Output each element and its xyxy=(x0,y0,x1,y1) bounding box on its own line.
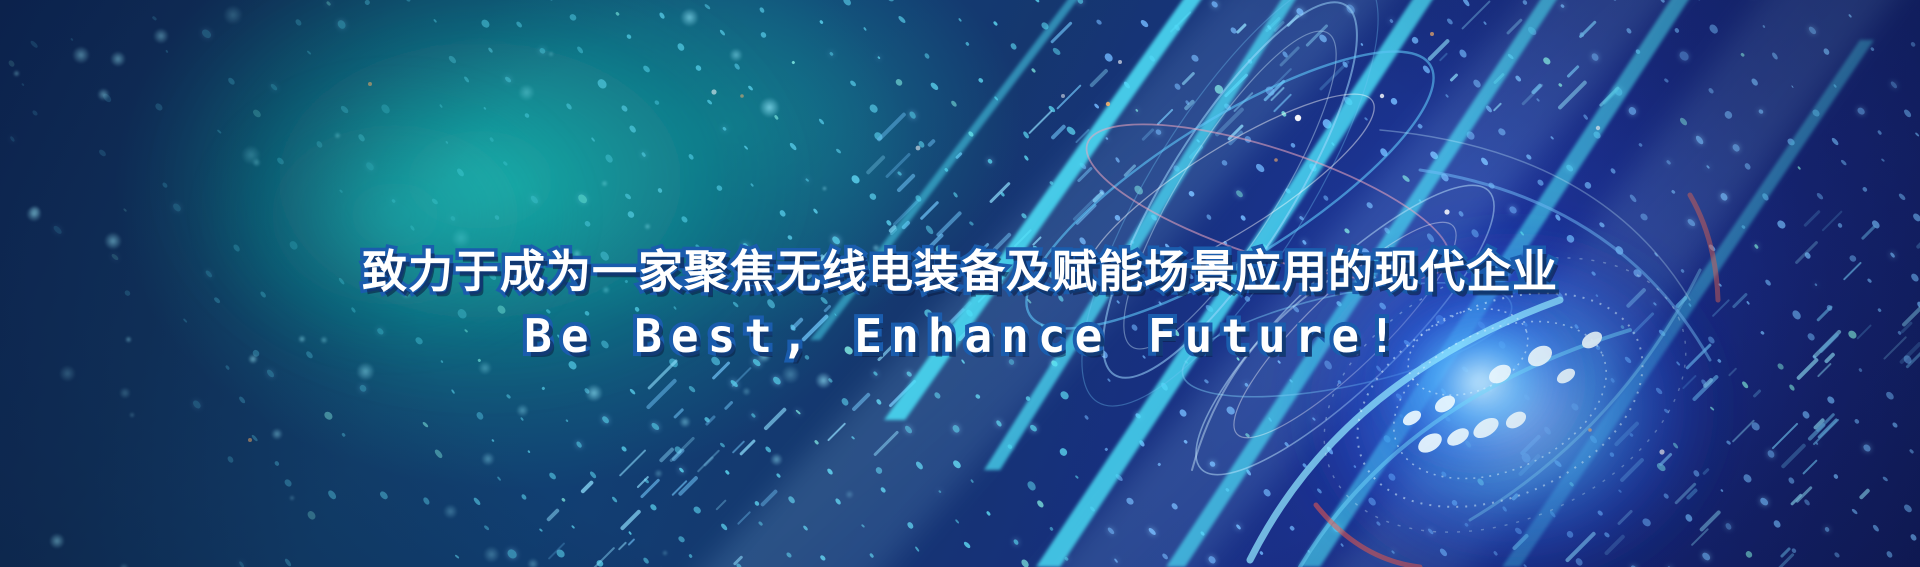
page-title-chinese: 致力于成为一家聚焦无线电装备及赋能场景应用的现代企业 xyxy=(0,246,1920,298)
hero-banner: 致力于成为一家聚焦无线电装备及赋能场景应用的现代企业 Be Best, Enha… xyxy=(0,0,1920,567)
page-subtitle-english: Be Best, Enhance Future! xyxy=(0,308,1920,366)
headline-block: 致力于成为一家聚焦无线电装备及赋能场景应用的现代企业 Be Best, Enha… xyxy=(0,246,1920,366)
